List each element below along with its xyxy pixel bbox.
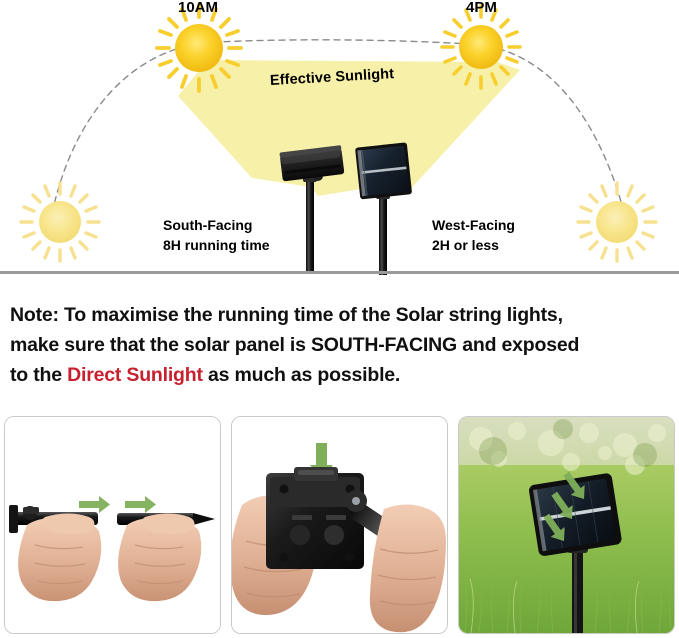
ground-divider — [0, 271, 679, 274]
label-morning-time: 10AM — [178, 0, 218, 16]
south-facing-title: South-Facing — [163, 215, 270, 235]
west-facing-detail: 2H or less — [432, 235, 515, 255]
sunrise-sun-icon — [21, 183, 99, 261]
south-facing-caption: South-Facing 8H running time — [163, 215, 270, 255]
west-facing-title: West-Facing — [432, 215, 515, 235]
south-facing-detail: 8H running time — [163, 235, 270, 255]
note-accent-direct-sunlight: Direct Sunlight — [67, 364, 203, 386]
west-facing-solar-lamp — [355, 142, 412, 275]
note-line-3-suffix: as much as possible. — [203, 364, 400, 386]
label-afternoon-time: 4PM — [466, 0, 497, 16]
attach-panel-photo — [231, 416, 448, 634]
sun-path-diagram: 10AM 4PM Effective Sunlight South-Facing… — [0, 0, 679, 276]
assemble-stake-photo — [4, 416, 221, 634]
note-line-2: make sure that the solar panel is SOUTH-… — [10, 330, 675, 360]
note-section: Note: To maximise the running time of th… — [10, 300, 675, 390]
instruction-photo-row — [4, 416, 675, 634]
note-line-3-prefix: to the — [10, 364, 67, 386]
solar-lamp-unit — [266, 467, 364, 569]
morning-sun-icon — [157, 5, 241, 91]
afternoon-sun-icon — [442, 6, 520, 88]
note-line-3: to the Direct Sunlight as much as possib… — [10, 360, 675, 390]
sunset-sun-icon — [578, 183, 656, 261]
sun-path-graphic — [0, 0, 679, 276]
west-facing-caption: West-Facing 2H or less — [432, 215, 515, 255]
south-facing-solar-lamp — [279, 145, 344, 272]
installed-in-grass-photo — [458, 416, 675, 634]
note-line-1: Note: To maximise the running time of th… — [10, 300, 675, 330]
